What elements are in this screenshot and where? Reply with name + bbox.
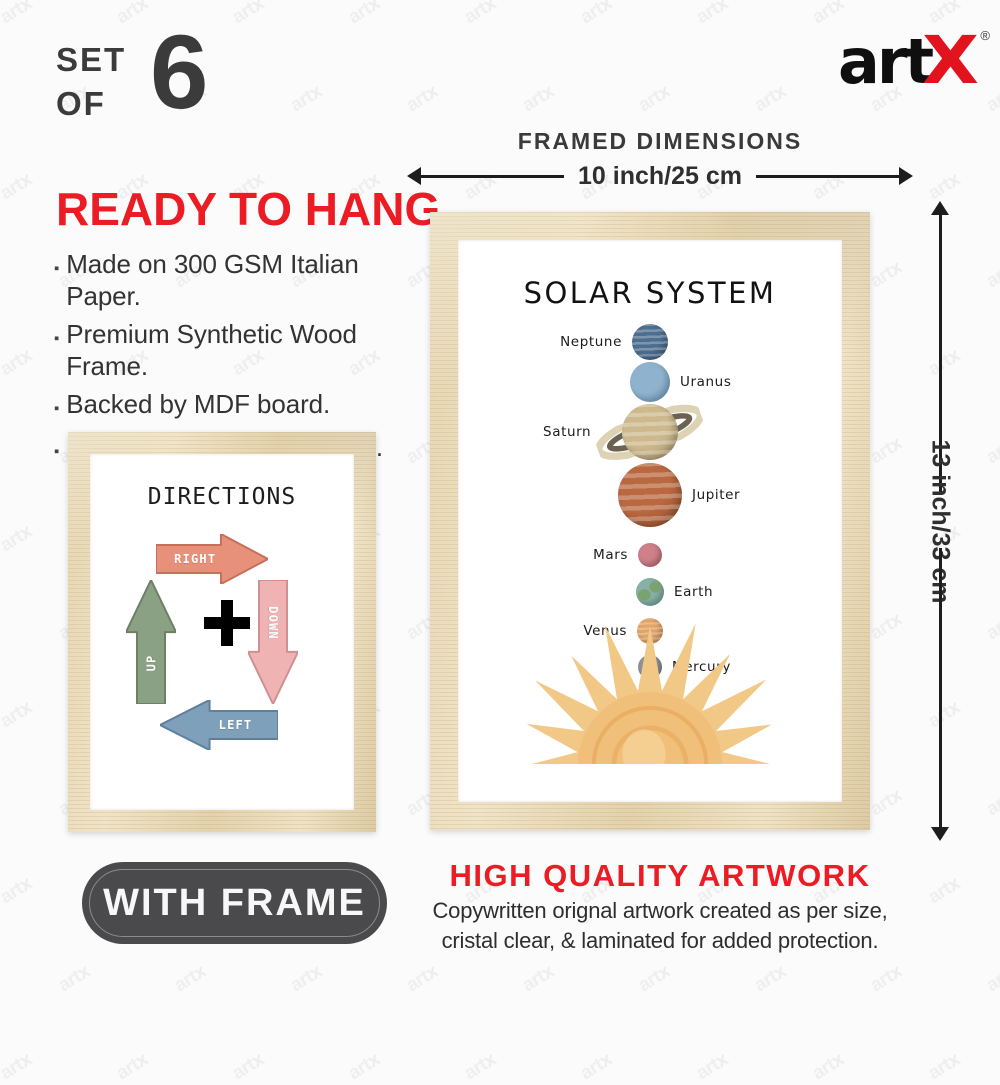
with-frame-badge: WITH FRAME [82,862,387,944]
ready-to-hang-heading: READY TO HANG [56,182,440,236]
watermark-text: artx [983,785,1000,821]
watermark-text: artx [751,81,791,117]
watermark-text: artx [0,873,36,909]
planet-label-earth: Earth [674,584,713,600]
watermark-text: artx [635,81,675,117]
solar-system-poster-artwork: SOLAR SYSTEM NeptuneUranusSaturnJupiterM… [468,250,832,792]
watermark-text: artx [693,0,733,29]
watermark-text: artx [0,169,36,205]
framed-dimensions-heading: FRAMED DIMENSIONS [420,128,900,155]
bullet-dot-icon: ▪ [54,436,59,468]
watermark-text: artx [171,961,211,997]
arrow-down-icon [939,548,942,829]
planet-band-texture [632,324,668,360]
planet-mars-icon [638,543,662,567]
sun-icon [500,620,800,770]
watermark-text: artx [0,1049,36,1085]
directions-poster-artwork: DIRECTIONS RIGHTUPDOWNLEFT [98,462,346,802]
watermark-text: artx [983,961,1000,997]
solar-system-picture-frame: SOLAR SYSTEM NeptuneUranusSaturnJupiterM… [430,212,870,830]
watermark-text: artx [0,345,36,381]
quality-description-line-2: cristal clear, & laminated for added pro… [415,927,905,954]
watermark-text: artx [577,1049,617,1085]
watermark-text: artx [229,1049,269,1085]
high-quality-heading: HIGH QUALITY ARTWORK [415,858,905,894]
with-frame-label: WITH FRAME [103,882,366,925]
watermark-text: artx [983,609,1000,645]
planet-uranus-icon [630,362,670,402]
watermark-text: artx [0,0,36,29]
bullet-text: Backed by MDF board. [66,388,330,420]
watermark-text: artx [635,961,675,997]
earth-landmass-texture [636,578,664,606]
direction-arrow-left: LEFT [160,700,278,750]
width-arrow-row: 10 inch/25 cm [420,160,900,192]
planet-label-saturn: Saturn [543,424,591,440]
direction-arrow-down: DOWN [248,580,298,704]
watermark-text: artx [867,961,907,997]
planet-band-texture [622,404,678,460]
direction-arrow-right: RIGHT [156,534,268,584]
watermark-text: artx [113,0,153,29]
watermark-text: artx [403,961,443,997]
arrow-label-up: UP [126,580,176,704]
bullet-text: Premium Synthetic Wood Frame. [66,318,434,382]
planet-band-texture [618,463,682,527]
directions-poster-title: DIRECTIONS [98,484,346,510]
arrow-label-left: LEFT [160,700,278,750]
watermark-text: artx [519,961,559,997]
planet-label-neptune: Neptune [560,334,622,350]
watermark-text: artx [925,873,965,909]
arrow-right-icon [756,175,900,178]
watermark-text: artx [519,81,559,117]
watermark-text: artx [0,521,36,557]
watermark-text: artx [983,81,1000,117]
watermark-text: artx [287,961,327,997]
watermark-text: artx [983,257,1000,293]
set-of-badge: SET OF 6 [56,34,276,144]
bullet-dot-icon: ▪ [54,253,59,285]
bullet-dot-icon: ▪ [54,393,59,425]
watermark-text: artx [751,961,791,997]
planet-earth-icon [636,578,664,606]
watermark-text: artx [403,81,443,117]
arrow-label-down: DOWN [248,580,298,704]
plus-symbol-icon [204,600,250,646]
planet-jupiter-icon [618,463,682,527]
planet-neptune-icon [632,324,668,360]
arrow-label-right: RIGHT [156,534,268,584]
watermark-text: artx [809,1049,849,1085]
watermark-text: artx [461,0,501,29]
solar-system-poster-title: SOLAR SYSTEM [468,276,832,310]
watermark-text: artx [925,169,965,205]
bullet-dot-icon: ▪ [54,323,59,355]
arrow-left-icon [420,175,564,178]
direction-arrow-up: UP [126,580,176,704]
watermark-text: artx [983,433,1000,469]
directions-picture-frame: DIRECTIONS RIGHTUPDOWNLEFT [68,432,376,832]
watermark-text: artx [345,1049,385,1085]
watermark-text: artx [693,1049,733,1085]
bullet-text: Made on 300 GSM Italian Paper. [66,248,434,312]
watermark-text: artx [925,1049,965,1085]
list-item: ▪ Premium Synthetic Wood Frame. [54,318,434,382]
artx-logo: art X ® [838,30,976,94]
planet-saturn-icon [622,404,678,460]
quality-description-line-1: Copywritten orignal artwork created as p… [415,897,905,924]
watermark-text: artx [287,81,327,117]
logo-x-text: X [922,30,979,92]
planet-label-jupiter: Jupiter [692,487,740,503]
watermark-text: artx [345,0,385,29]
height-arrow-column: 13 inch/33 cm [900,214,980,828]
list-item: ▪ Backed by MDF board. [54,388,434,425]
logo-wordmark: art X ® [838,30,976,93]
logo-art-text: art [838,31,931,93]
set-count-number: 6 [150,20,208,125]
watermark-text: artx [113,1049,153,1085]
framed-dimensions-height-indicator: 13 inch/33 cm [900,214,980,828]
watermark-text: artx [0,697,36,733]
width-value: 10 inch/25 cm [564,162,756,191]
planet-label-mars: Mars [593,547,628,563]
watermark-text: artx [577,0,617,29]
framed-dimensions-width-indicator: FRAMED DIMENSIONS 10 inch/25 cm [420,128,900,190]
high-quality-artwork-block: HIGH QUALITY ARTWORK Copywritten orignal… [415,858,905,954]
list-item: ▪ Made on 300 GSM Italian Paper. [54,248,434,312]
sun-shape [500,620,800,770]
planet-label-uranus: Uranus [680,374,731,390]
registered-trademark-icon: ® [980,28,990,43]
watermark-text: artx [55,961,95,997]
watermark-text: artx [461,1049,501,1085]
watermark-text: artx [229,0,269,29]
